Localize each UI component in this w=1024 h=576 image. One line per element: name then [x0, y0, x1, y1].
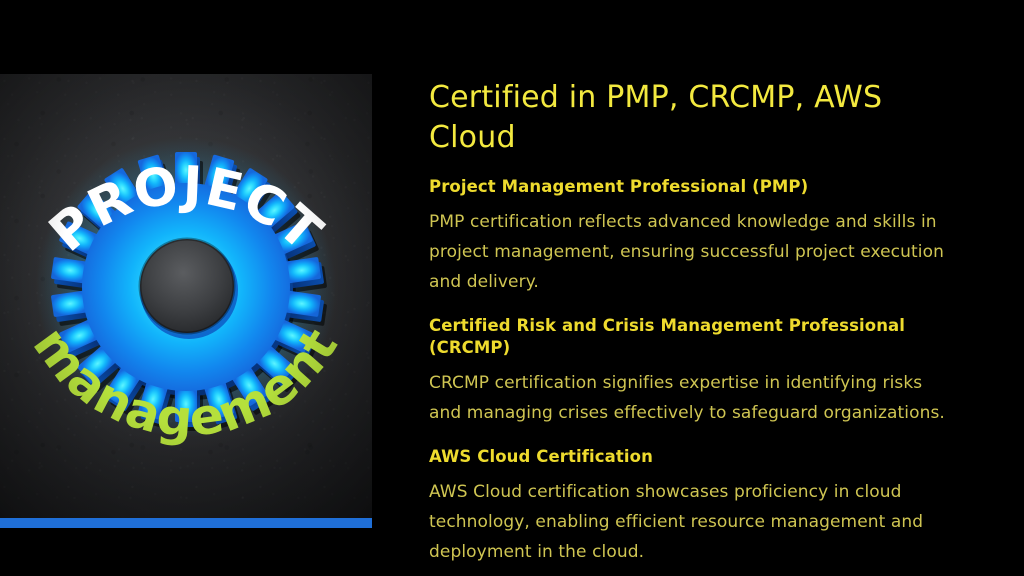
- page-title: Certified in PMP, CRCMP, AWS Cloud: [429, 78, 934, 158]
- section-heading: Project Management Professional (PMP): [429, 176, 974, 198]
- certification-section-pmp: Project Management Professional (PMP) PM…: [429, 176, 974, 297]
- slide-canvas: PROJECT management Certified in PMP, CRC…: [0, 0, 1024, 576]
- section-body: PMP certification reflects advanced know…: [429, 207, 959, 297]
- section-body: CRCMP certification signifies expertise …: [429, 368, 959, 428]
- section-body: AWS Cloud certification showcases profic…: [429, 477, 959, 567]
- project-management-image: PROJECT management: [0, 74, 372, 528]
- certification-section-crcmp: Certified Risk and Crisis Management Pro…: [429, 315, 974, 428]
- certification-section-aws: AWS Cloud Certification AWS Cloud certif…: [429, 446, 974, 567]
- content-column: Certified in PMP, CRCMP, AWS Cloud Proje…: [429, 78, 974, 567]
- image-accent-bar: [0, 518, 372, 528]
- section-heading: AWS Cloud Certification: [429, 446, 974, 468]
- image-vignette: [0, 74, 372, 528]
- section-heading: Certified Risk and Crisis Management Pro…: [429, 315, 974, 359]
